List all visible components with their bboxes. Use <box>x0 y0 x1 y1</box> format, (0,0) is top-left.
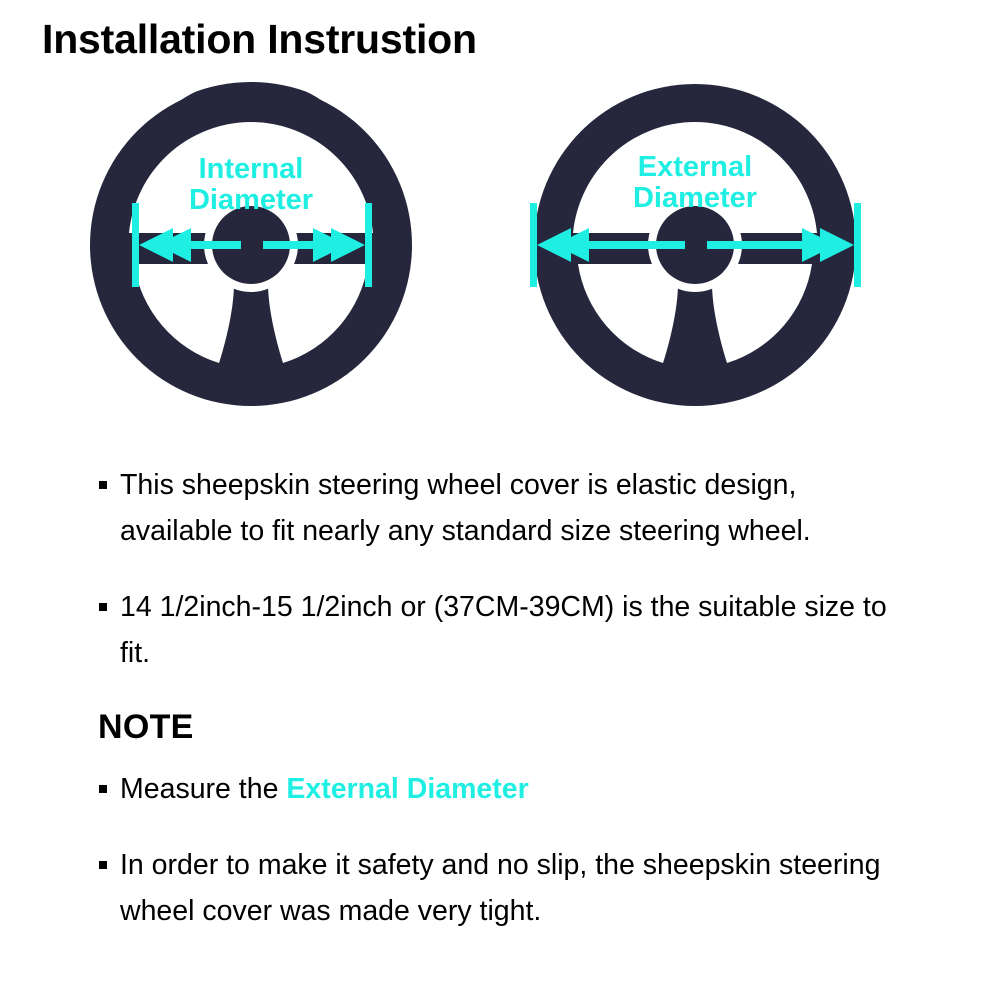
wheel-caption-line2: Diameter <box>633 182 757 214</box>
measure-tick-left <box>132 203 139 287</box>
measure-tick-right <box>365 203 372 287</box>
bullet-text: 14 1/2inch-15 1/2inch or (37CM-39CM) is … <box>120 591 887 669</box>
wheel-caption-line1: Internal <box>199 153 304 185</box>
diagram-row: Internal Diameter <box>0 78 1001 428</box>
bullet-elastic-design: This sheepskin steering wheel cover is e… <box>98 462 916 554</box>
bullet-suitable-size: 14 1/2inch-15 1/2inch or (37CM-39CM) is … <box>98 584 916 676</box>
bullet-tight-fit: In order to make it safety and no slip, … <box>98 842 916 934</box>
bullet-square-icon <box>99 603 107 611</box>
bullet-text: This sheepskin steering wheel cover is e… <box>120 469 811 547</box>
bullet-square-icon <box>99 481 107 489</box>
wheel-caption-line2: Diameter <box>189 184 313 216</box>
steering-wheel-internal-diagram: Internal Diameter <box>88 78 428 418</box>
note-heading: NOTE <box>98 706 916 748</box>
bullet-square-icon <box>99 785 107 793</box>
measure-prefix-text: Measure the <box>120 773 286 805</box>
instruction-body: This sheepskin steering wheel cover is e… <box>98 462 916 934</box>
page-title: Installation Instrustion <box>42 18 477 61</box>
bullet-square-icon <box>99 861 107 869</box>
note-section: NOTE Measure the External Diameter In or… <box>98 706 916 934</box>
measure-highlight-text: External Diameter <box>286 773 528 805</box>
measure-tick-left <box>530 203 537 287</box>
steering-wheel-external-diagram: External Diameter <box>527 78 867 418</box>
bullet-measure-external: Measure the External Diameter <box>98 766 916 812</box>
bullet-text: In order to make it safety and no slip, … <box>120 849 880 927</box>
measure-tick-right <box>854 203 861 287</box>
wheel-caption-line1: External <box>638 151 752 183</box>
